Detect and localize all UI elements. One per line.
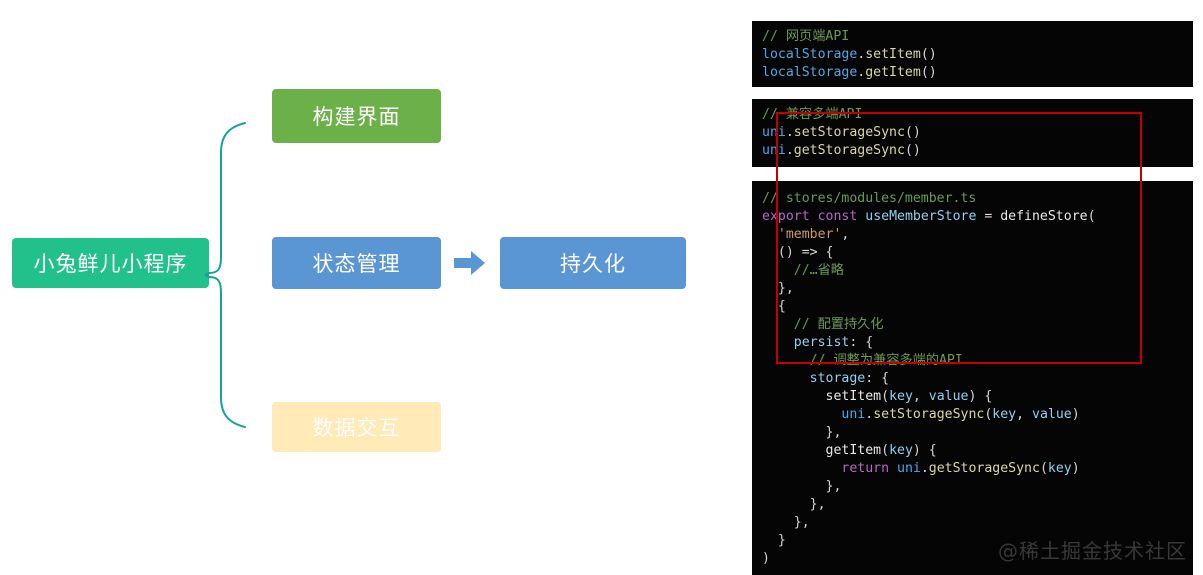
branch-brace [205, 105, 275, 445]
code-line: // 网页端API [762, 28, 1193, 46]
code-token [762, 389, 826, 404]
code-token: => [802, 245, 818, 260]
code-token: key [992, 407, 1016, 422]
code-token: // stores/modules/member.ts [762, 191, 976, 206]
code-token: localStorage [762, 47, 857, 62]
code-block-uni-api[interactable]: // 兼容多端APIuni.setStorageSync()uni.getSto… [752, 99, 1193, 167]
code-block-member-store[interactable]: // stores/modules/member.tsexport const … [752, 181, 1193, 575]
code-token: ) { [913, 443, 937, 458]
code-token: ) [1072, 461, 1080, 476]
code-token: key [1048, 461, 1072, 476]
code-line: localStorage.getItem() [762, 64, 1193, 82]
code-line: }, [762, 424, 1193, 442]
code-token: setItem [826, 389, 882, 404]
code-token: value [1032, 407, 1072, 422]
code-line: return uni.getStorageSync(key) [762, 460, 1193, 478]
code-token: () [905, 125, 921, 140]
code-token: { [818, 245, 834, 260]
code-token: } [762, 533, 786, 548]
code-token: uni [762, 143, 786, 158]
code-token: uni [897, 461, 921, 476]
code-line: //…省略 [762, 262, 1193, 280]
code-line: getItem(key) { [762, 442, 1193, 460]
code-token: uni [841, 407, 865, 422]
code-line: uni.getStorageSync() [762, 142, 1193, 160]
code-token: persist [794, 335, 850, 350]
code-token: () [921, 47, 937, 62]
code-line: }, [762, 496, 1193, 514]
node-data-interaction[interactable]: 数据交互 [272, 402, 441, 452]
code-token: getStorageSync [794, 143, 905, 158]
code-token: // 网页端API [762, 29, 849, 44]
code-line: }, [762, 514, 1193, 532]
code-token: , [913, 389, 929, 404]
node-state-management-label: 状态管理 [313, 248, 401, 278]
watermark-text: @稀土掘金技术社区 [998, 535, 1187, 564]
node-build-ui-label: 构建界面 [313, 101, 401, 131]
code-block-web-api[interactable]: // 网页端APIlocalStorage.setItem()localStor… [752, 21, 1193, 87]
node-state-management[interactable]: 状态管理 [272, 237, 441, 289]
code-token: //…省略 [762, 263, 844, 278]
code-token [762, 407, 841, 422]
code-line: // 兼容多端API [762, 106, 1193, 124]
code-line: storage: { [762, 370, 1193, 388]
code-token: // 兼容多端API [762, 107, 862, 122]
code-token: defineStore [1000, 209, 1087, 224]
code-line: // 配置持久化 [762, 316, 1193, 334]
code-token [762, 227, 778, 242]
code-token: , [1016, 407, 1032, 422]
code-token: : { [849, 335, 873, 350]
node-persistence[interactable]: 持久化 [500, 237, 686, 289]
code-token: const [818, 209, 858, 224]
code-snippets-column: // 网页端APIlocalStorage.setItem()localStor… [752, 0, 1193, 568]
code-token: value [929, 389, 969, 404]
code-token: setItem [865, 47, 921, 62]
code-line: { [762, 298, 1193, 316]
code-token: key [889, 389, 913, 404]
code-token: key [889, 443, 913, 458]
code-token: }, [762, 281, 794, 296]
node-root-app-label: 小兔鲜儿小程序 [34, 248, 188, 278]
code-token: () [905, 143, 921, 158]
code-token [762, 461, 841, 476]
code-token: 'member' [778, 227, 842, 242]
code-token: getItem [865, 65, 921, 80]
code-token: ( [881, 389, 889, 404]
code-token: }, [762, 497, 826, 512]
code-token: () [762, 245, 802, 260]
code-line: setItem(key, value) { [762, 388, 1193, 406]
code-token: . [921, 461, 929, 476]
code-line: }, [762, 280, 1193, 298]
code-line: // 调整为兼容多端的API [762, 352, 1193, 370]
code-token [762, 443, 826, 458]
code-token: useMemberStore [865, 209, 976, 224]
code-token: ) [762, 551, 770, 566]
code-token: uni [762, 125, 786, 140]
code-token: }, [762, 479, 841, 494]
code-token: () [921, 65, 937, 80]
code-token: }, [762, 425, 841, 440]
code-token: return [841, 461, 889, 476]
node-data-interaction-label: 数据交互 [313, 412, 401, 442]
code-token: setStorageSync [794, 125, 905, 140]
code-line: uni.setStorageSync(key, value) [762, 406, 1193, 424]
code-token: . [786, 143, 794, 158]
code-token: { [762, 299, 786, 314]
code-token: . [786, 125, 794, 140]
code-token [762, 335, 794, 350]
code-token [889, 461, 897, 476]
code-token [762, 371, 810, 386]
code-line: uni.setStorageSync() [762, 124, 1193, 142]
code-line: persist: { [762, 334, 1193, 352]
code-token: localStorage [762, 65, 857, 80]
code-token: = [976, 209, 1000, 224]
code-line: 'member', [762, 226, 1193, 244]
code-token: export [762, 209, 810, 224]
code-token: }, [762, 515, 810, 530]
code-token: ) { [968, 389, 992, 404]
code-token: , [841, 227, 849, 242]
code-token: ( [881, 443, 889, 458]
architecture-diagram: 小兔鲜儿小程序 构建界面 状态管理 持久化 数据交互 [0, 0, 750, 568]
code-token: // 调整为兼容多端的API [762, 353, 963, 368]
code-token: ) [1072, 407, 1080, 422]
code-token: getStorageSync [929, 461, 1040, 476]
node-root-app[interactable]: 小兔鲜儿小程序 [12, 238, 209, 288]
node-persistence-label: 持久化 [560, 248, 626, 278]
code-line: }, [762, 478, 1193, 496]
code-token: setStorageSync [873, 407, 984, 422]
code-line: // stores/modules/member.ts [762, 190, 1193, 208]
code-line: export const useMemberStore = defineStor… [762, 208, 1193, 226]
code-token: storage [810, 371, 866, 386]
code-token: getItem [826, 443, 882, 458]
code-token: ( [1040, 461, 1048, 476]
code-token: : { [865, 371, 889, 386]
right-arrow-icon [452, 248, 488, 278]
code-line: () => { [762, 244, 1193, 262]
code-token: ( [1088, 209, 1096, 224]
code-line: localStorage.setItem() [762, 46, 1193, 64]
code-token: . [865, 407, 873, 422]
code-token [810, 209, 818, 224]
node-build-ui[interactable]: 构建界面 [272, 89, 441, 143]
code-token: // 配置持久化 [762, 317, 884, 332]
